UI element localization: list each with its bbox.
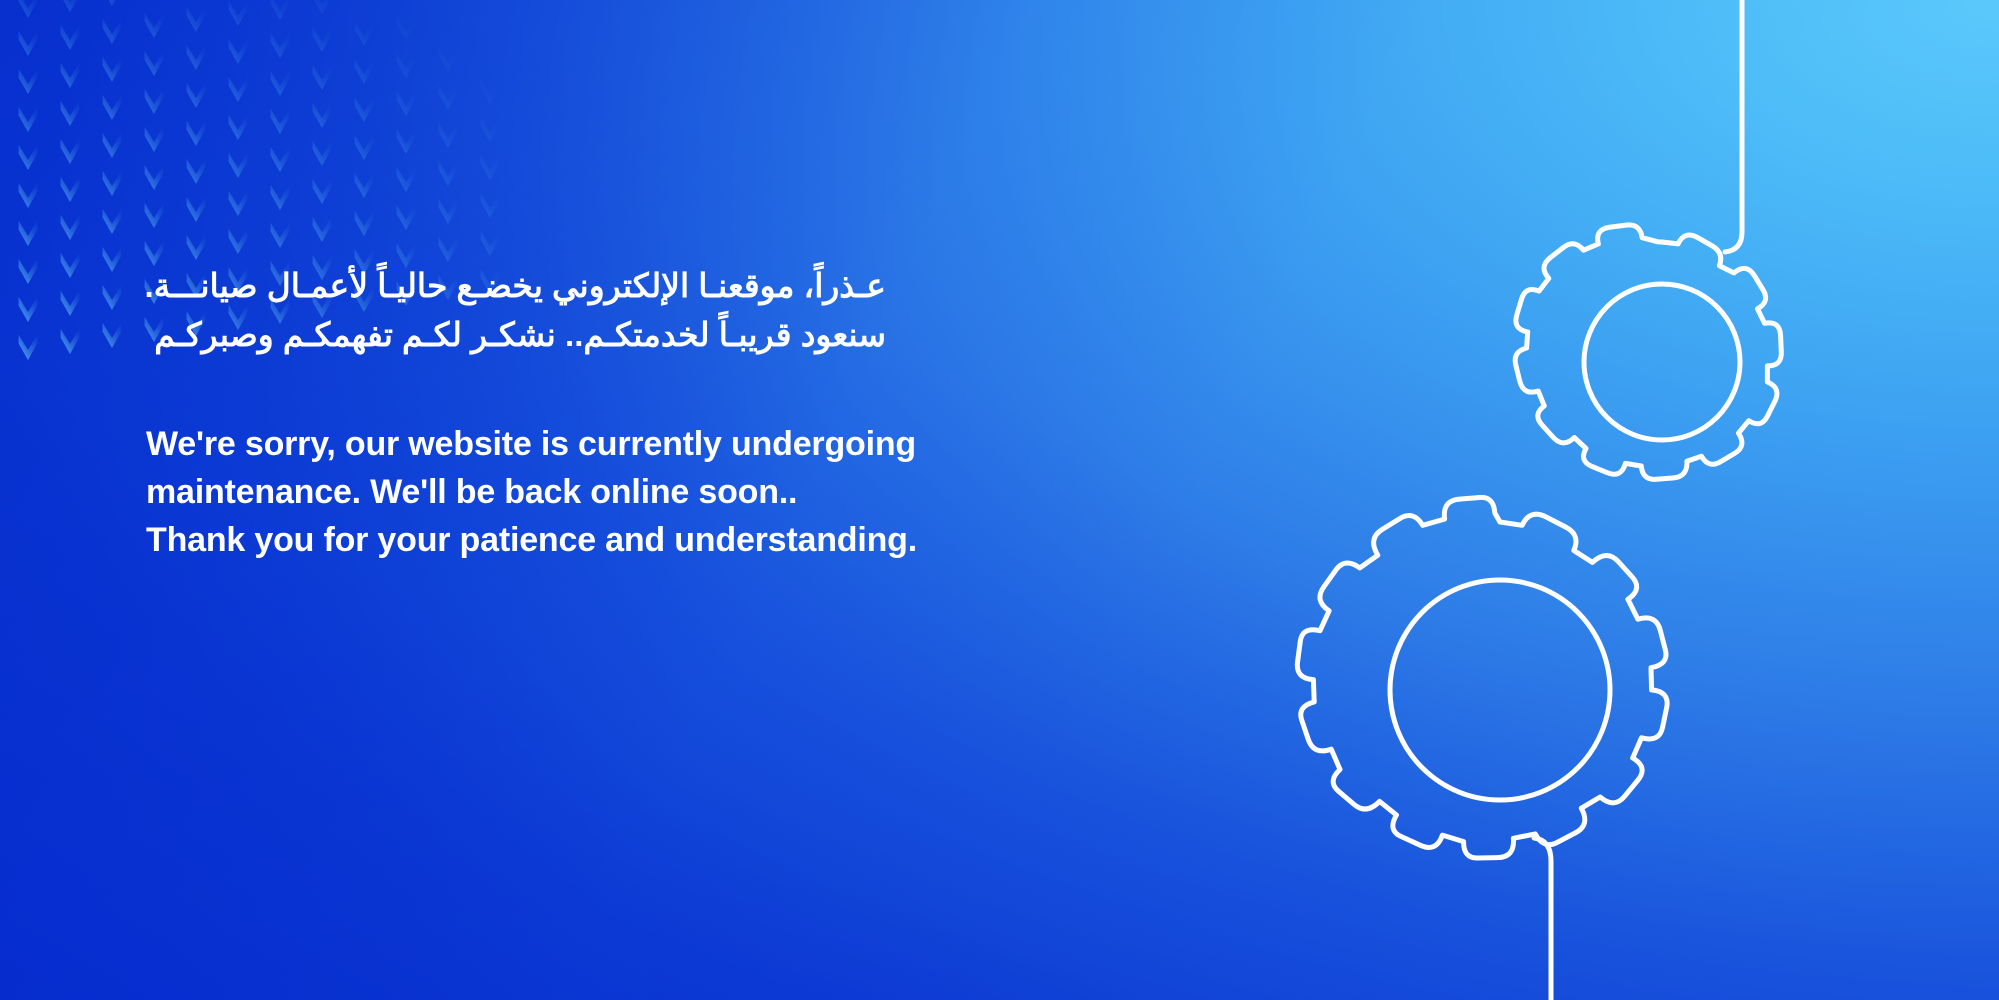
arabic-line-2: سنعود قريبـاً لخدمتكـم.. نشكـر لكـم تفهم… — [146, 311, 886, 360]
english-line-3: Thank you for your patience and understa… — [146, 516, 966, 564]
english-line-1: We're sorry, our website is currently un… — [146, 420, 966, 468]
maintenance-page: عـذراً، موقعنـا الإلكتروني يخضـع حاليـاً… — [0, 0, 1999, 1000]
maintenance-copy: عـذراً، موقعنـا الإلكتروني يخضـع حاليـاً… — [146, 262, 966, 564]
arabic-message: عـذراً، موقعنـا الإلكتروني يخضـع حاليـاً… — [146, 262, 886, 360]
english-line-2: maintenance. We'll be back online soon.. — [146, 468, 966, 516]
arabic-line-1: عـذراً، موقعنـا الإلكتروني يخضـع حاليـاً… — [146, 262, 886, 311]
english-message: We're sorry, our website is currently un… — [146, 420, 966, 565]
